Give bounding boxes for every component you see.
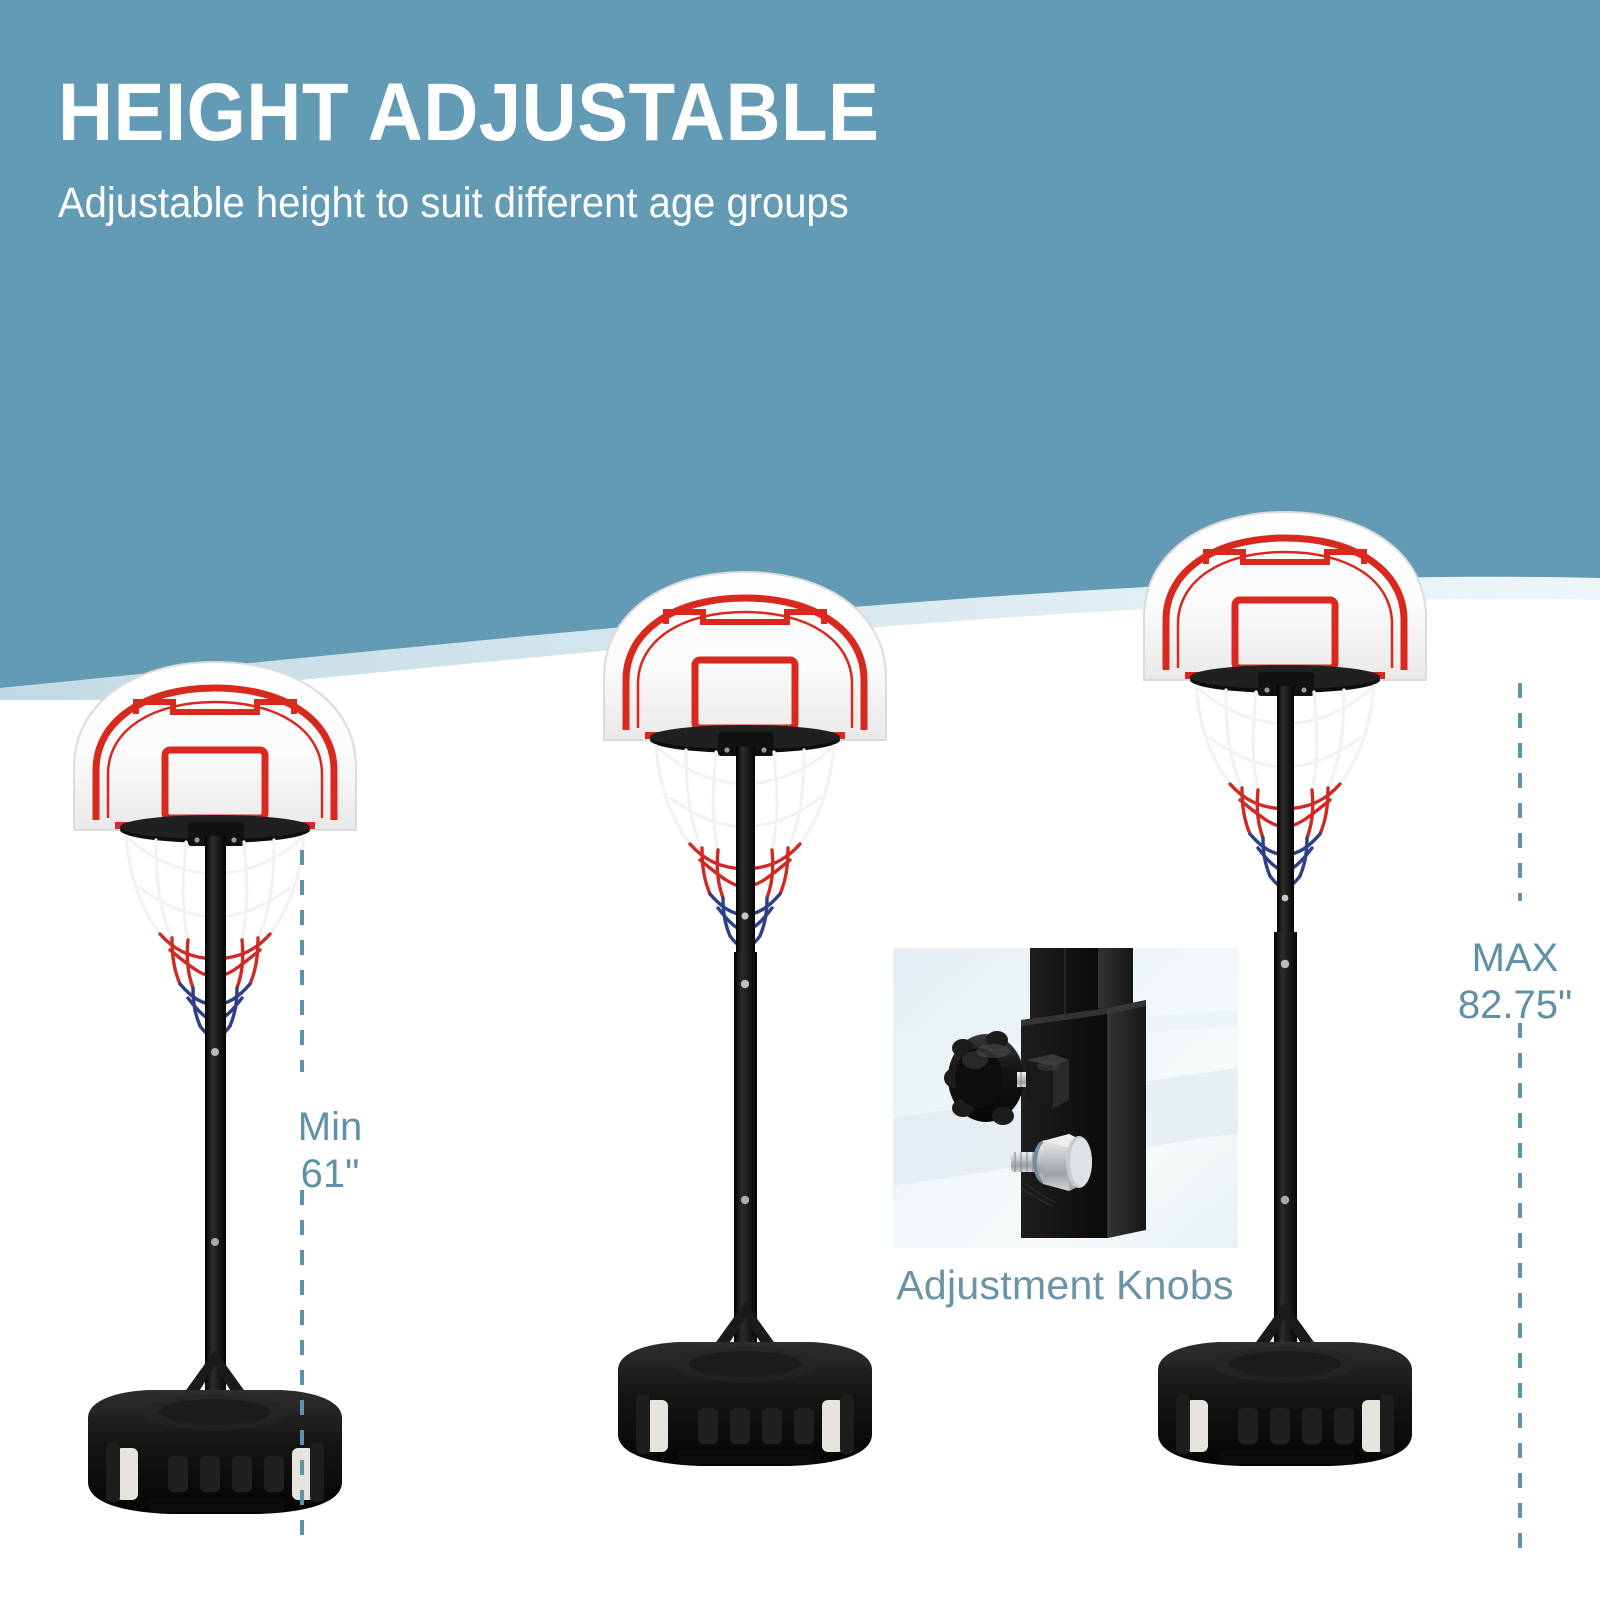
page-title: HEIGHT ADJUSTABLE <box>58 72 1174 154</box>
backboard <box>1144 512 1426 680</box>
support-pole <box>734 746 757 1352</box>
min-height-dashed-line <box>292 850 312 1550</box>
hex-nut-upper <box>1026 1054 1069 1108</box>
header-text-block: HEIGHT ADJUSTABLE Adjustable height to s… <box>58 72 1258 227</box>
max-height-dashed-line <box>1510 683 1530 1553</box>
max-height-label: MAX 82.75" <box>1415 935 1600 1029</box>
support-pole <box>205 836 226 1396</box>
page-subtitle: Adjustable height to suit different age … <box>58 180 1174 227</box>
infographic-canvas: HEIGHT ADJUSTABLE Adjustable height to s… <box>0 0 1600 1600</box>
basketball-hoop-mid <box>590 560 930 1590</box>
backboard <box>604 572 886 740</box>
min-height-label: Min 61" <box>240 1104 420 1198</box>
adjustment-knobs-caption: Adjustment Knobs <box>845 1262 1285 1309</box>
backboard <box>74 662 356 830</box>
adjustment-knob-inset-photo <box>893 948 1238 1248</box>
support-pole <box>1274 686 1297 1352</box>
outer-pole-tube <box>1021 1000 1146 1238</box>
